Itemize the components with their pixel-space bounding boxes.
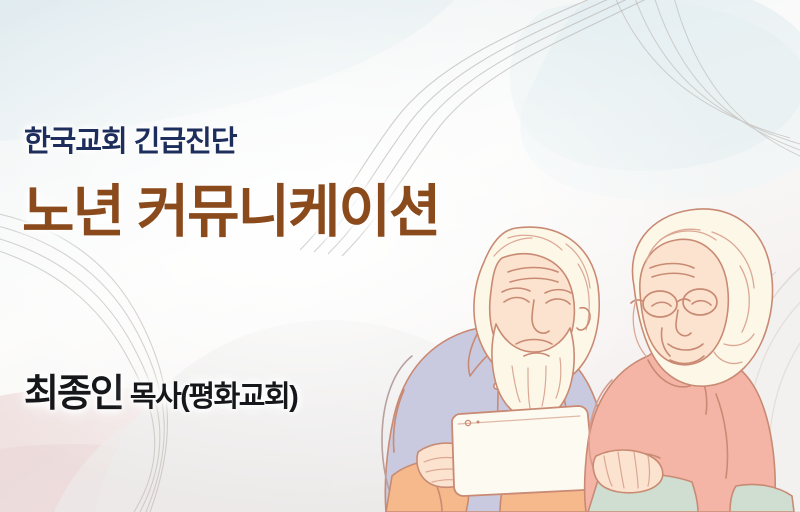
text-content-block: 한국교회 긴급진단 노년 커뮤니케이션 최종인 목사(평화교회) [22,0,542,512]
seminar-promo-banner: 한국교회 긴급진단 노년 커뮤니케이션 최종인 목사(평화교회) [0,0,800,512]
speaker-name: 최종인 [24,362,123,417]
banner-eyebrow: 한국교회 긴급진단 [24,118,237,160]
speaker-role: 목사(평화교회) [130,373,297,415]
speaker-credit: 최종인 목사(평화교회) [24,362,297,417]
banner-title: 노년 커뮤니케이션 [22,166,439,248]
